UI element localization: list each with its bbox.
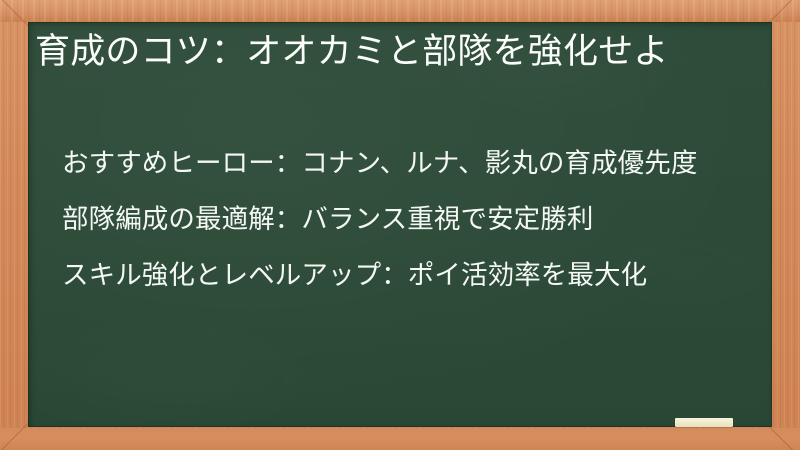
list-item: おすすめヒーロー：コナン、ルナ、影丸の育成優先度 [62, 146, 752, 181]
frame-bottom-rail [0, 428, 800, 450]
list-item: 部隊編成の最適解：バランス重視で安定勝利 [62, 202, 752, 237]
slide-content: 育成のコツ：オオカミと部隊を強化せよ おすすめヒーロー：コナン、ルナ、影丸の育成… [28, 22, 772, 427]
chalkboard-surface: 育成のコツ：オオカミと部隊を強化せよ おすすめヒーロー：コナン、ルナ、影丸の育成… [28, 22, 772, 427]
slide-title: 育成のコツ：オオカミと部隊を強化せよ [35, 28, 751, 76]
chalkboard-slide: 育成のコツ：オオカミと部隊を強化せよ おすすめヒーロー：コナン、ルナ、影丸の育成… [0, 0, 800, 450]
chalk-stick [675, 418, 733, 427]
bullet-list: おすすめヒーロー：コナン、ルナ、影丸の育成優先度 部隊編成の最適解：バランス重視… [62, 146, 752, 293]
list-item: スキル強化とレベルアップ：ポイ活効率を最大化 [62, 258, 752, 293]
frame-top-rail [0, 0, 800, 22]
